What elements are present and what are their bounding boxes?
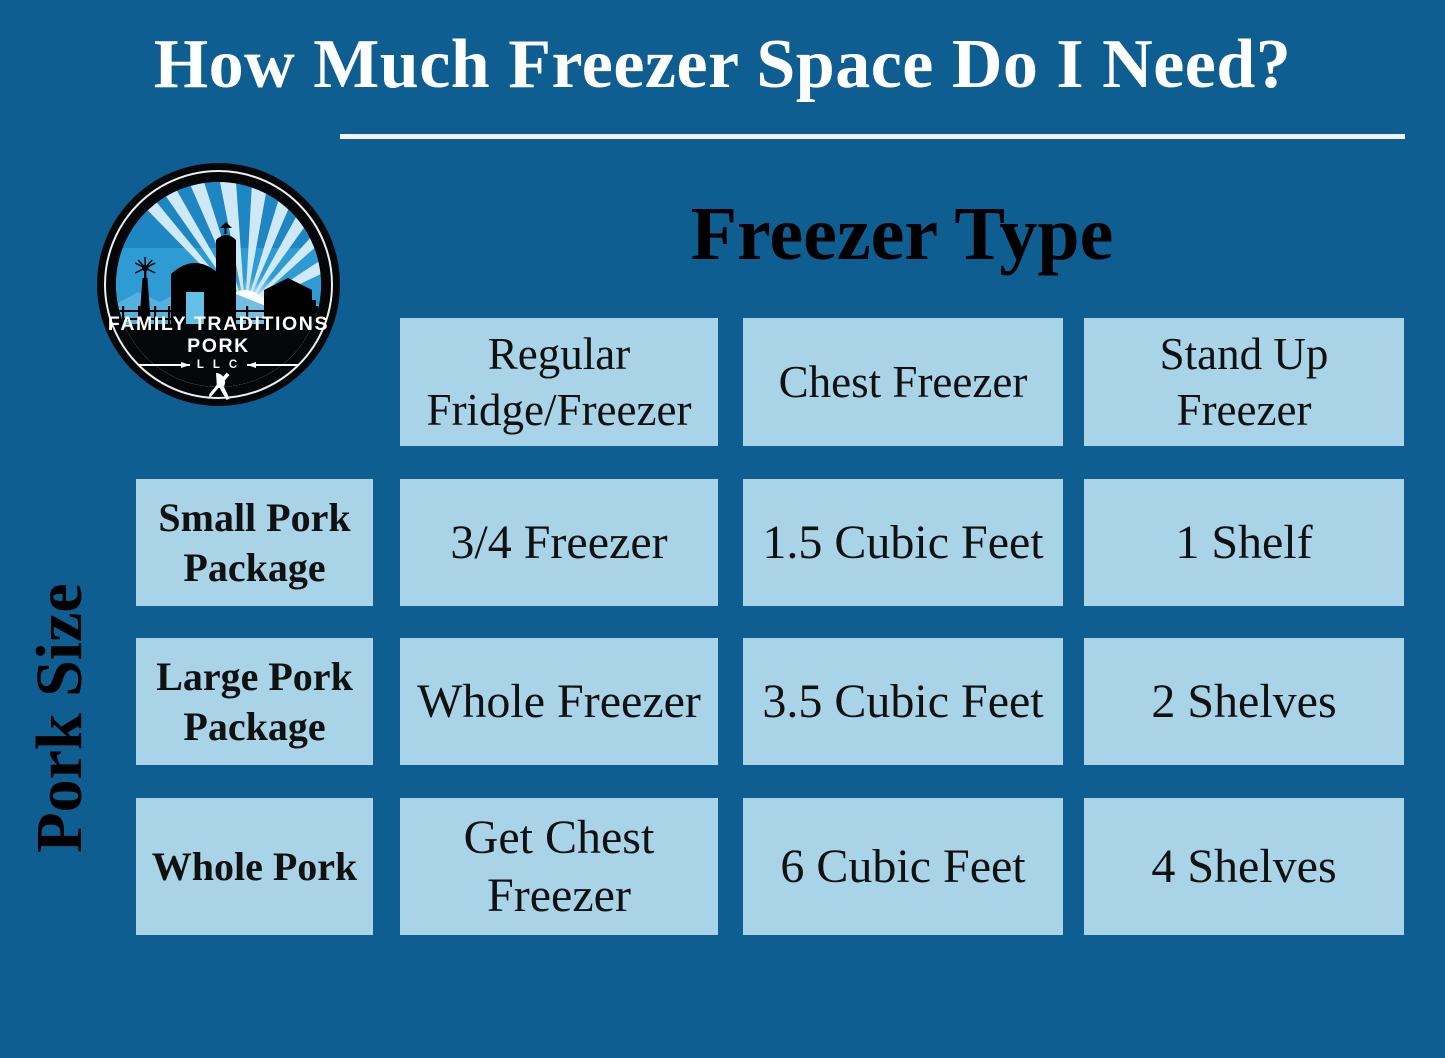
logo-entity-label: L L C — [197, 359, 240, 371]
column-axis-label: Freezer Type — [400, 188, 1404, 280]
crossed-utensils-icon — [97, 371, 340, 401]
cell-value: 6 Cubic Feet — [749, 838, 1057, 896]
table-cell-large-chest: 3.5 Cubic Feet — [743, 638, 1063, 765]
cell-value: 3.5 Cubic Feet — [749, 673, 1057, 731]
arrow-right-icon — [247, 364, 299, 366]
page-title: How Much Freezer Space Do I Need? — [0, 24, 1445, 106]
column-header-label: Regular Fridge/Freezer — [406, 326, 712, 438]
cell-value: Get Chest Freezer — [406, 809, 712, 925]
column-header-chest-freezer: Chest Freezer — [743, 318, 1063, 446]
row-header-label: Small Pork Package — [142, 493, 367, 593]
row-axis-label: Pork Size — [24, 458, 96, 978]
table-cell-whole-chest: 6 Cubic Feet — [743, 798, 1063, 935]
table-cell-whole-regular: Get Chest Freezer — [400, 798, 718, 935]
title-divider — [340, 134, 1405, 139]
logo-brand-name: FAMILY TRADITIONS — [97, 313, 340, 335]
table-cell-large-standup: 2 Shelves — [1084, 638, 1404, 765]
cell-value: 1.5 Cubic Feet — [749, 514, 1057, 572]
column-header-regular-fridge-freezer: Regular Fridge/Freezer — [400, 318, 718, 446]
row-header-label: Whole Pork — [142, 842, 367, 892]
logo-brand-product: PORK — [97, 335, 340, 357]
row-header-small-pork-package: Small Pork Package — [136, 479, 373, 606]
column-header-stand-up-freezer: Stand Up Freezer — [1084, 318, 1404, 446]
row-header-whole-pork: Whole Pork — [136, 798, 373, 935]
column-header-label: Chest Freezer — [749, 354, 1057, 410]
table-cell-small-regular: 3/4 Freezer — [400, 479, 718, 606]
cell-value: 3/4 Freezer — [406, 514, 712, 572]
arrow-left-icon — [138, 364, 190, 366]
cell-value: Whole Freezer — [406, 673, 712, 731]
logo-entity-row: L L C — [97, 359, 340, 371]
row-header-large-pork-package: Large Pork Package — [136, 638, 373, 765]
cell-value: 4 Shelves — [1090, 838, 1398, 896]
table-cell-small-chest: 1.5 Cubic Feet — [743, 479, 1063, 606]
row-header-label: Large Pork Package — [142, 652, 367, 752]
column-header-label: Stand Up Freezer — [1090, 326, 1398, 438]
table-cell-large-regular: Whole Freezer — [400, 638, 718, 765]
cell-value: 2 Shelves — [1090, 673, 1398, 731]
table-cell-small-standup: 1 Shelf — [1084, 479, 1404, 606]
cell-value: 1 Shelf — [1090, 514, 1398, 572]
infographic-poster: How Much Freezer Space Do I Need? — [0, 0, 1445, 1058]
table-cell-whole-standup: 4 Shelves — [1084, 798, 1404, 935]
brand-logo: FAMILY TRADITIONS PORK L L C — [97, 163, 340, 406]
